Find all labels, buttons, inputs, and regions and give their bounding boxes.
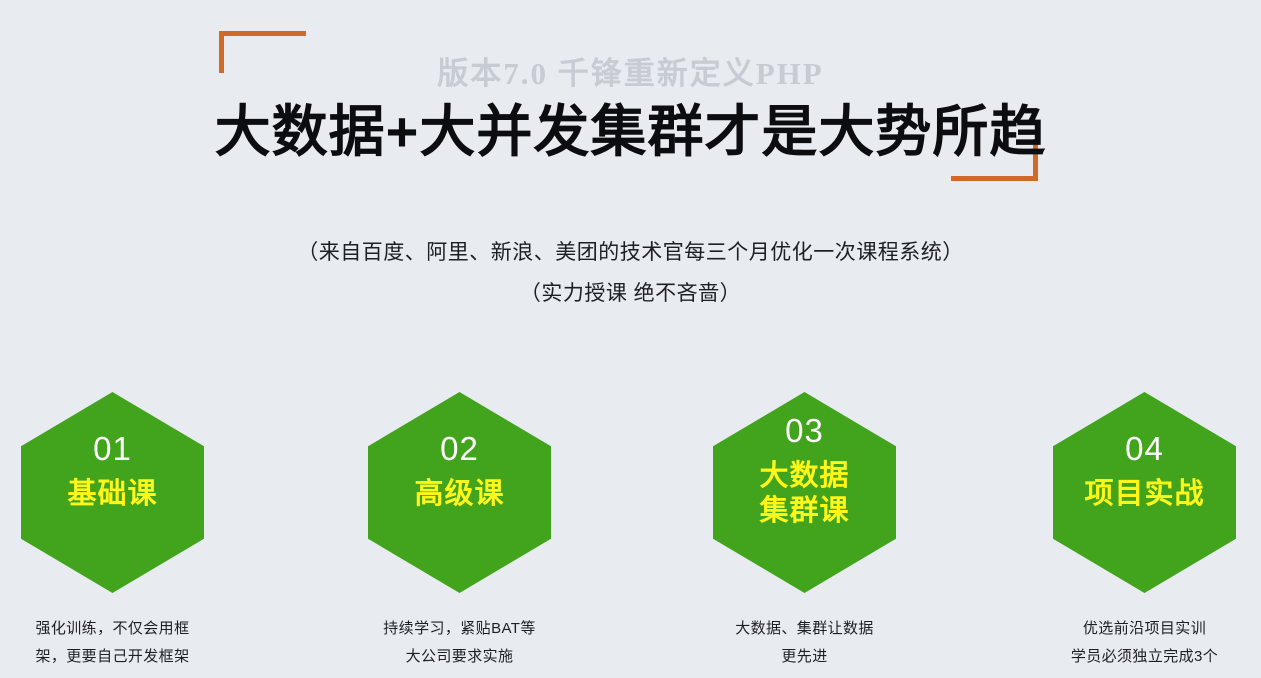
course-card-03[interactable]: 03 大数据 集群课 大数据、集群让数据 更先进	[677, 388, 932, 678]
course-card-01[interactable]: 01 基础课 强化训练，不仅会用框 架，更要自己开发框架	[0, 388, 240, 678]
course-label-line1-02: 高级课	[414, 478, 504, 510]
course-caption-line2-04: 学员必须独立完成3个	[1017, 643, 1261, 671]
hexagon-shape-04[interactable]: 04 项目实战	[1053, 392, 1236, 593]
course-caption-03: 大数据、集群让数据 更先进	[677, 615, 932, 671]
hexagon-content-03: 03 大数据 集群课	[713, 392, 896, 593]
subtitle-block: （来自百度、阿里、新浪、美团的技术官每三个月优化一次课程系统） （实力授课 绝不…	[0, 232, 1261, 314]
course-label-line1-03: 大数据	[759, 460, 849, 492]
course-caption-line1-03: 大数据、集群让数据	[677, 615, 932, 643]
course-label-line1-01: 基础课	[67, 478, 157, 510]
course-label-03: 大数据 集群课	[759, 459, 849, 530]
watermark-text: 版本7.0 千锋重新定义PHP	[0, 48, 1261, 93]
course-label-02: 高级课	[414, 477, 504, 512]
hexagon-shape-02[interactable]: 02 高级课	[368, 392, 551, 593]
course-label-line1-04: 项目实战	[1084, 478, 1204, 510]
course-card-02[interactable]: 02 高级课 持续学习，紧贴BAT等 大公司要求实施	[332, 388, 587, 678]
course-caption-01: 强化训练，不仅会用框 架，更要自己开发框架	[0, 615, 240, 671]
hexagon-content-01: 01 基础课	[21, 392, 204, 593]
hexagon-content-02: 02 高级课	[368, 392, 551, 593]
hexagon-shape-03[interactable]: 03 大数据 集群课	[713, 392, 896, 593]
course-card-04[interactable]: 04 项目实战 优选前沿项目实训 学员必须独立完成3个	[1017, 388, 1261, 678]
course-caption-02: 持续学习，紧贴BAT等 大公司要求实施	[332, 615, 587, 671]
subtitle-line-2: （实力授课 绝不吝啬）	[0, 273, 1261, 314]
course-label-line2-03: 集群课	[759, 494, 849, 529]
course-caption-line2-03: 更先进	[677, 643, 932, 671]
course-label-04: 项目实战	[1084, 477, 1204, 512]
course-hexagon-row: 01 基础课 强化训练，不仅会用框 架，更要自己开发框架 02 高级课	[0, 388, 1261, 678]
course-caption-line2-01: 架，更要自己开发框架	[0, 643, 240, 671]
course-caption-line2-02: 大公司要求实施	[332, 643, 587, 671]
course-number-01: 01	[93, 432, 132, 465]
course-label-01: 基础课	[67, 477, 157, 512]
hexagon-content-04: 04 项目实战	[1053, 392, 1236, 593]
hexagon-shape-01[interactable]: 01 基础课	[21, 392, 204, 593]
course-number-03: 03	[785, 414, 824, 447]
course-number-04: 04	[1125, 432, 1164, 465]
course-number-02: 02	[440, 432, 479, 465]
subtitle-line-1: （来自百度、阿里、新浪、美团的技术官每三个月优化一次课程系统）	[0, 232, 1261, 273]
page-title: 大数据+大并发集群才是大势所趋	[0, 100, 1261, 164]
course-caption-line1-04: 优选前沿项目实训	[1017, 615, 1261, 643]
slide-root: 版本7.0 千锋重新定义PHP 大数据+大并发集群才是大势所趋 （来自百度、阿里…	[0, 0, 1261, 678]
course-caption-04: 优选前沿项目实训 学员必须独立完成3个	[1017, 615, 1261, 671]
course-caption-line1-02: 持续学习，紧贴BAT等	[332, 615, 587, 643]
course-caption-line1-01: 强化训练，不仅会用框	[0, 615, 240, 643]
